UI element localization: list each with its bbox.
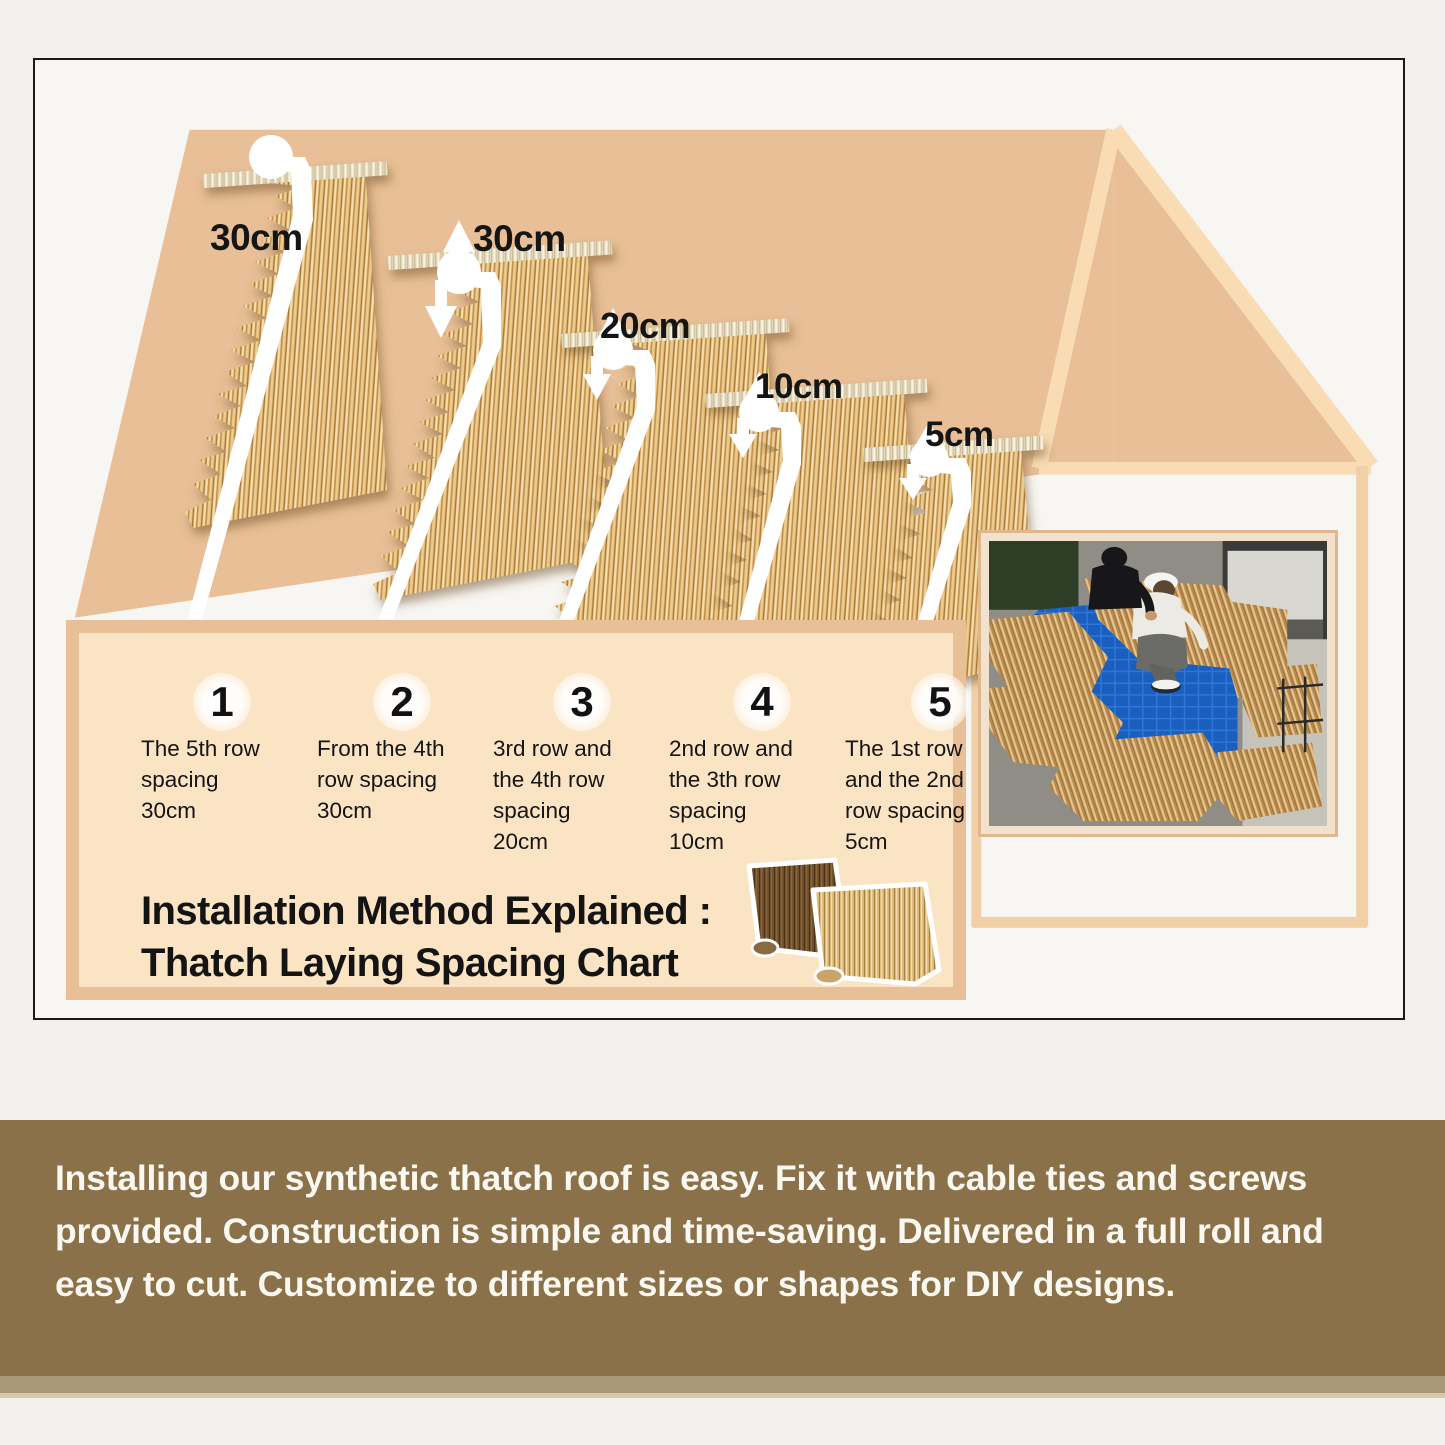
main-illustration-frame: 30cm 30cm 20cm 10cm 5cm 1 2 3 4 5 The 5t…: [33, 58, 1405, 1020]
banner-strip-lighter: [0, 1393, 1445, 1398]
caption-line: the 3th row: [669, 764, 837, 795]
caption-line: From the 4th: [317, 733, 485, 764]
banner-strip-light: [0, 1376, 1445, 1393]
headline-line-1: Installation Method Explained :: [141, 885, 711, 937]
headline-line-2: Thatch Laying Spacing Chart: [141, 937, 711, 989]
caption-line: 30cm: [317, 795, 485, 826]
caption-column-2: From the 4th row spacing 30cm: [317, 733, 493, 857]
caption-line: spacing: [669, 795, 837, 826]
thatch-roll-samples: [729, 848, 979, 998]
caption-line: 20cm: [493, 826, 661, 857]
caption-line: The 5th row: [141, 733, 309, 764]
caption-panel: 1 2 3 4 5 The 5th row spacing 30cm From …: [66, 620, 966, 1000]
thatch-roll-light: [813, 884, 939, 984]
caption-line: row spacing: [317, 764, 485, 795]
step-badge-3: 3: [553, 673, 611, 731]
step-badge-5: 5: [911, 673, 969, 731]
step-badge-4: 4: [733, 673, 791, 731]
caption-line: spacing: [141, 764, 309, 795]
banner-text: Installing our synthetic thatch roof is …: [55, 1152, 1385, 1311]
step-badge-2: 2: [373, 673, 431, 731]
caption-column-1: The 5th row spacing 30cm: [141, 733, 317, 857]
caption-column-3: 3rd row and the 4th row spacing 20cm: [493, 733, 669, 857]
caption-line: 3rd row and: [493, 733, 661, 764]
installation-photo: [981, 533, 1335, 834]
caption-line: 2nd row and: [669, 733, 837, 764]
caption-line: spacing: [493, 795, 661, 826]
caption-line: the 4th row: [493, 764, 661, 795]
step-badge-1: 1: [193, 673, 251, 731]
caption-column-4: 2nd row and the 3th row spacing 10cm: [669, 733, 845, 857]
caption-line: 30cm: [141, 795, 309, 826]
installation-photo-image: [989, 541, 1327, 826]
headline: Installation Method Explained : Thatch L…: [141, 885, 711, 989]
bottom-banner: Installing our synthetic thatch roof is …: [0, 1120, 1445, 1376]
caption-columns: The 5th row spacing 30cm From the 4th ro…: [141, 733, 1021, 857]
